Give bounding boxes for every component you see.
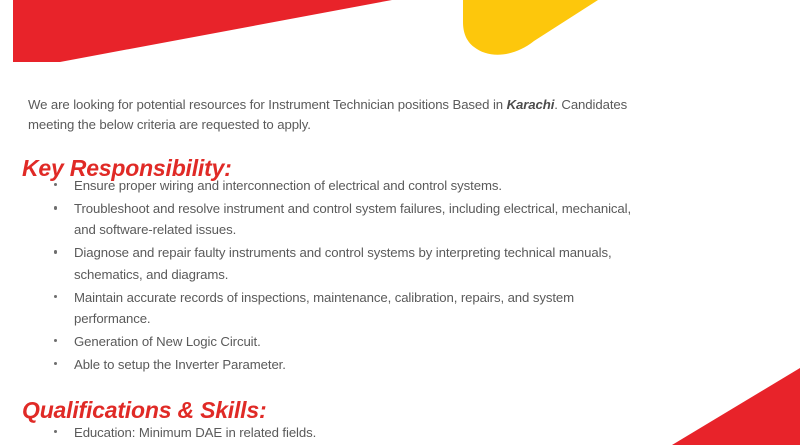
- list-item: Able to setup the Inverter Parameter.: [48, 354, 648, 375]
- list-item: Troubleshoot and resolve instrument and …: [48, 198, 648, 240]
- job-posting-page: We are looking for potential resources f…: [0, 0, 800, 445]
- list-item: Generation of New Logic Circuit.: [48, 331, 648, 352]
- list-item: Maintain accurate records of inspections…: [48, 287, 648, 329]
- intro-text-before: We are looking for potential resources f…: [28, 97, 507, 112]
- bullet-list-qualifications-skills: Education: Minimum DAE in related fields…: [48, 422, 648, 445]
- bullet-list-key-responsibility: Ensure proper wiring and interconnection…: [48, 175, 648, 377]
- red-corner-triangle-shape: [672, 368, 800, 445]
- list-item: Ensure proper wiring and interconnection…: [48, 175, 648, 196]
- section-heading-qualifications-skills: Qualifications & Skills:: [22, 397, 266, 424]
- red-angled-banner-shape: [13, 0, 392, 62]
- list-item: Diagnose and repair faulty instruments a…: [48, 242, 648, 284]
- intro-paragraph: We are looking for potential resources f…: [28, 95, 668, 135]
- list-item: Education: Minimum DAE in related fields…: [48, 422, 648, 443]
- intro-location-emphasis: Karachi: [507, 97, 555, 112]
- yellow-rounded-wedge-shape: [463, 0, 598, 55]
